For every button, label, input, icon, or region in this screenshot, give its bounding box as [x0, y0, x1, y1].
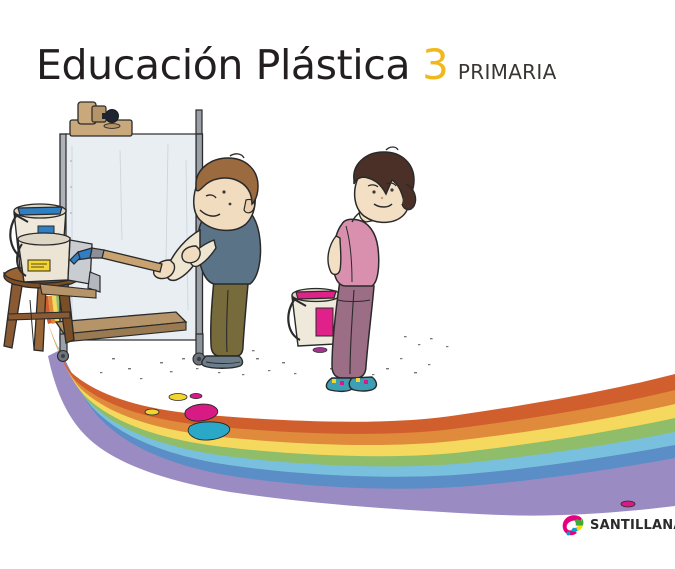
floor-speckles: [100, 336, 448, 379]
paint-can-stack-on-stool: [17, 233, 70, 282]
easel-clamp: [70, 102, 132, 136]
page-title: Educación Plástica 3 PRIMARIA: [36, 44, 557, 86]
girl-shoe: [349, 377, 376, 391]
publisher-logo: SANTILLANA: [560, 512, 675, 538]
boy-painting-easel-rainbow-illustration: [0, 100, 675, 520]
splatter-magenta: [313, 348, 327, 353]
book-cover: Educación Plástica 3 PRIMARIA: [0, 0, 675, 569]
santillana-swirl-icon: [560, 512, 586, 538]
easel: [56, 102, 205, 365]
publisher-name: SANTILLANA: [590, 518, 675, 533]
splatter-yellow: [169, 394, 187, 401]
paint-can-magenta-on-floor: [288, 289, 340, 347]
paint-can-magenta-swatch: [316, 308, 333, 336]
easel-canvas: [66, 134, 196, 340]
title-grade-number: 3: [422, 44, 449, 86]
girl-trousers: [332, 280, 374, 378]
splatter-magenta: [621, 501, 635, 507]
paint-can-label: [28, 260, 50, 271]
title-subject-label: Educación Plástica: [36, 45, 410, 86]
splatter-magenta: [190, 393, 202, 398]
girl-observer: [326, 147, 415, 391]
splatter-yellow: [145, 409, 159, 415]
title-level-label: PRIMARIA: [458, 62, 557, 82]
